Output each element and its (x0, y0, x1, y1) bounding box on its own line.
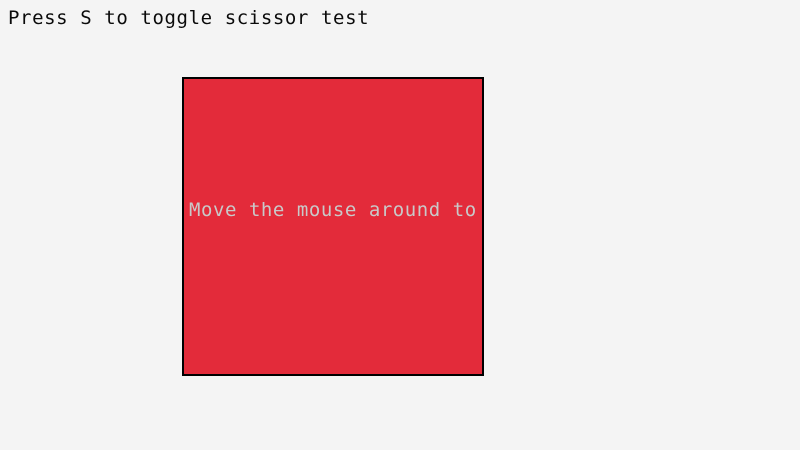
app-canvas: Press S to toggle scissor test Move the … (0, 0, 800, 450)
scissor-rectangle[interactable]: Move the mouse around to reveal (182, 77, 484, 376)
instruction-text: Press S to toggle scissor test (8, 7, 369, 30)
scissor-clipped-text: Move the mouse around to reveal (189, 199, 484, 222)
